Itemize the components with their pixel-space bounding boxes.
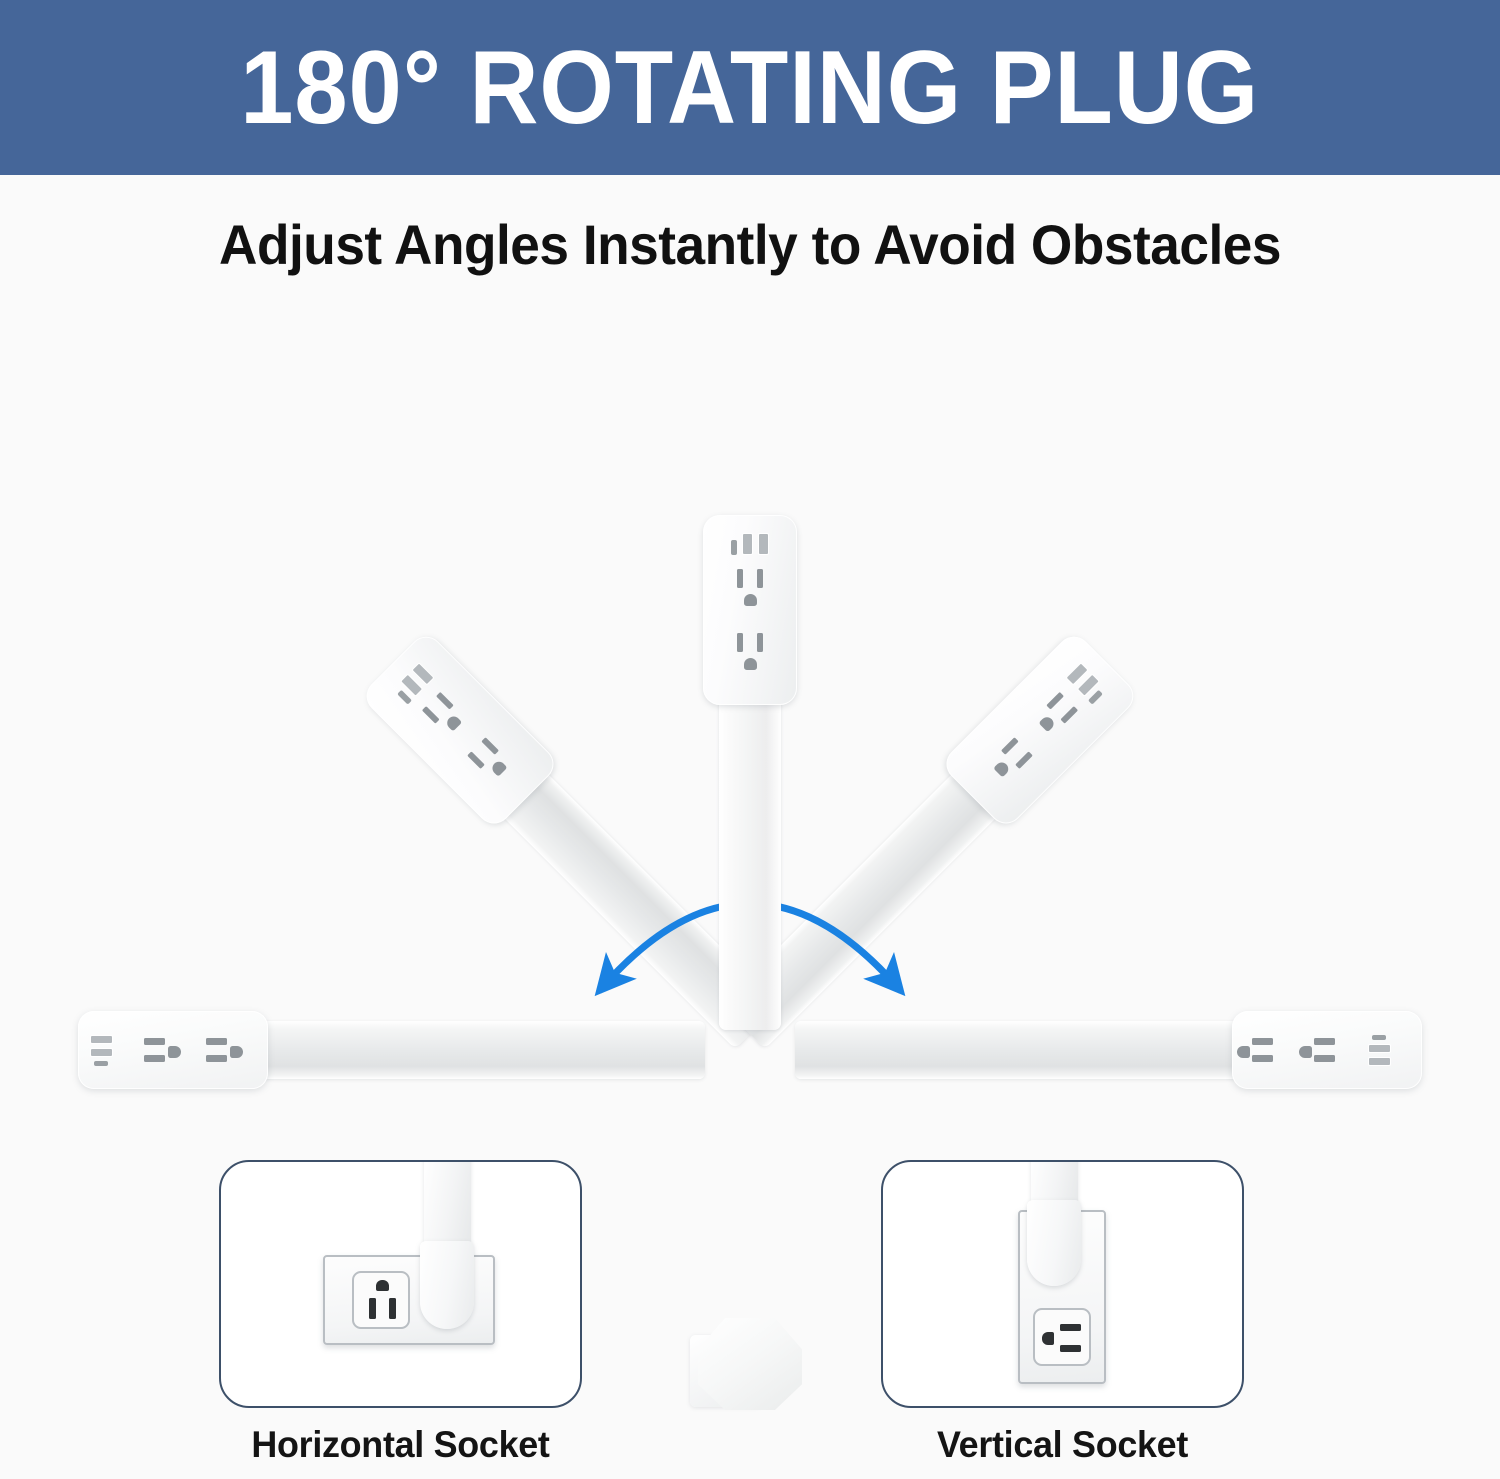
usb-c-port-icon [731, 540, 737, 555]
plug-stem [424, 1160, 471, 1250]
usb-c-port-icon [1372, 1035, 1386, 1040]
ac-outlet-icon [719, 565, 781, 619]
banner-title: 180° ROTATING PLUG [241, 36, 1260, 140]
arm-right-horizontal-shaft [795, 1021, 1245, 1079]
arm-shaft [719, 690, 781, 1030]
power-strip-head-right-horizontal [1232, 1011, 1422, 1089]
usb-c-port-icon [1088, 690, 1103, 705]
callout-box [219, 1160, 582, 1408]
usb-port-row [1356, 1035, 1402, 1066]
rotating-plug-diagram [0, 330, 1500, 1130]
usb-a-port-icon [90, 1035, 113, 1044]
callout-horizontal-socket: Horizontal Socket [219, 1160, 582, 1466]
ac-outlet-icon [124, 1025, 186, 1075]
header-banner: 180° ROTATING PLUG [0, 0, 1500, 175]
callout-row: Horizontal Socket Vertical Socket [0, 1160, 1500, 1479]
usb-a-port-icon [758, 533, 769, 555]
ac-outlet-icon [186, 1025, 248, 1075]
wall-outlet-icon [1033, 1308, 1091, 1366]
wall-outlet-icon [352, 1271, 410, 1329]
usb-a-port-icon [1368, 1057, 1391, 1066]
subtitle-text: Adjust Angles Instantly to Avoid Obstacl… [38, 212, 1463, 277]
rotating-plug-icon [420, 1241, 474, 1329]
usb-c-port-icon [94, 1061, 108, 1066]
ac-outlet-icon [1294, 1025, 1356, 1075]
power-strip-head [703, 515, 797, 705]
arm-left-horizontal-shaft [255, 1021, 705, 1079]
ac-outlet-icon [719, 629, 781, 683]
usb-a-port-icon [742, 533, 753, 555]
usb-port-row [78, 1035, 124, 1066]
rotating-plug-icon [1027, 1200, 1081, 1286]
ac-outlet-icon [1232, 1025, 1294, 1075]
callout-box [881, 1160, 1244, 1408]
callout-label: Vertical Socket [886, 1424, 1238, 1466]
usb-a-port-icon [90, 1048, 113, 1057]
usb-port-row [703, 529, 797, 555]
callout-vertical-socket: Vertical Socket [881, 1160, 1244, 1466]
power-strip-head-left-horizontal [78, 1011, 268, 1089]
usb-a-port-icon [1368, 1044, 1391, 1053]
callout-label: Horizontal Socket [224, 1424, 576, 1466]
